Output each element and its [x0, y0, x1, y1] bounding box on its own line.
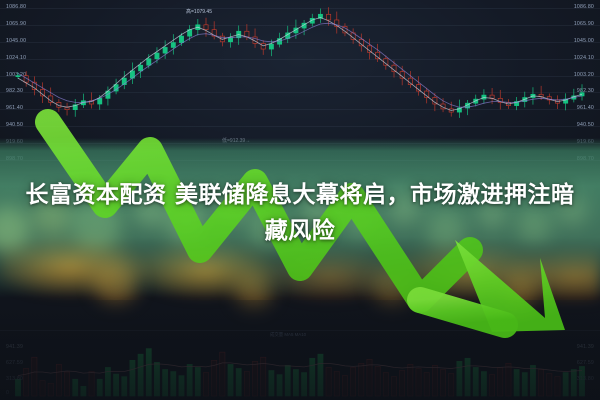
page-title: 长富资本配资 美联储降息大幕将启，市场激进押注暗藏风险: [22, 178, 578, 249]
stock-news-banner: 1086.801065.901045.001024.101003.20982.3…: [0, 0, 600, 400]
